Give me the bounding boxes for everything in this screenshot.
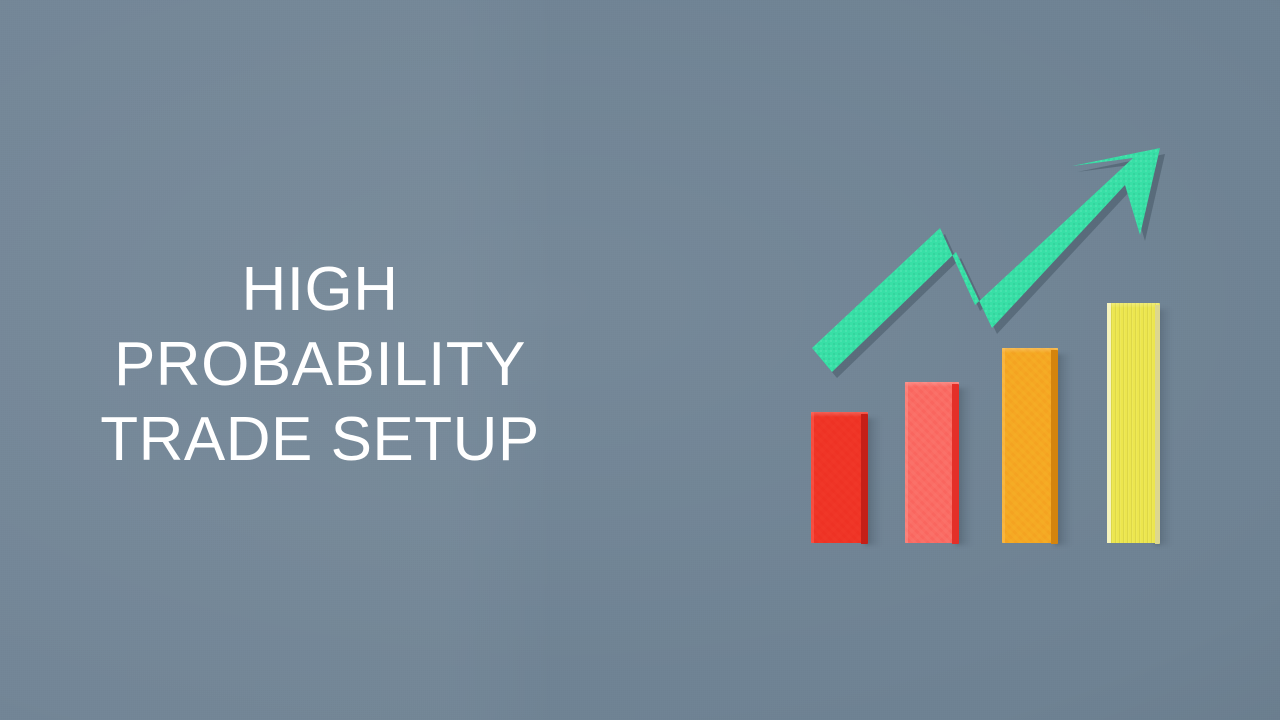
bar-salmon-side-face (952, 384, 959, 544)
bar-orange-left-edge (1002, 348, 1005, 543)
bar-yellow-side-face (1155, 305, 1160, 544)
bar-red-face (811, 412, 868, 543)
bar-salmon-texture (905, 382, 959, 543)
bar-orange-texture (1002, 348, 1058, 543)
bar-orange-side-face (1051, 350, 1058, 544)
bar-orange (1002, 348, 1058, 543)
bar-yellow (1107, 303, 1160, 543)
bar-chart-blocks (0, 0, 1280, 720)
bar-yellow-top-light (1107, 303, 1160, 308)
bar-salmon-left-edge (905, 382, 908, 543)
bar-orange-face (1002, 348, 1058, 543)
bar-salmon-top-light (905, 382, 959, 387)
bar-yellow-corrugation (1107, 303, 1160, 543)
bar-yellow-left-edge (1107, 303, 1111, 543)
bar-orange-top-light (1002, 348, 1058, 353)
bar-red-top-light (811, 412, 868, 417)
bar-red-side-face (861, 414, 868, 544)
bar-red-left-edge (811, 412, 814, 543)
bar-salmon-face (905, 382, 959, 543)
bar-red-texture (811, 412, 868, 543)
bar-red (811, 412, 868, 543)
bar-salmon (905, 382, 959, 543)
bar-yellow-face (1107, 303, 1160, 543)
poster-canvas: HIGH PROBABILITY TRADE SETUP (0, 0, 1280, 720)
